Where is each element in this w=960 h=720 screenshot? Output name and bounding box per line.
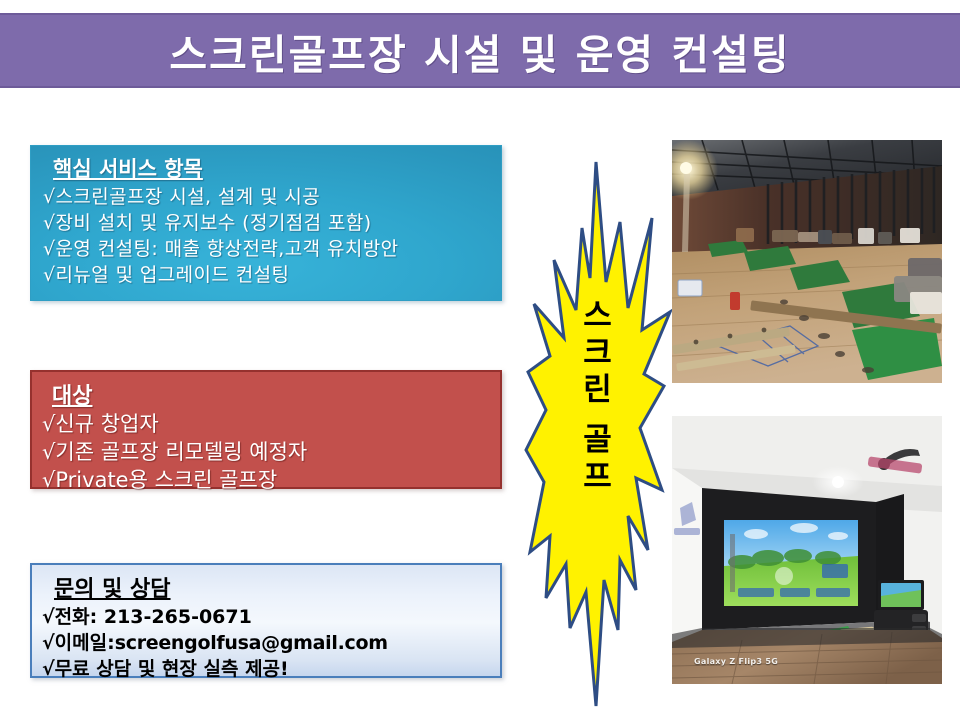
starburst-icon	[524, 160, 672, 708]
target-item: √신규 창업자	[42, 410, 500, 438]
screen-golf-room-image	[672, 416, 942, 684]
contact-heading: 문의 및 상담	[54, 571, 500, 603]
contact-email-value[interactable]: screengolfusa@gmail.com	[115, 632, 388, 654]
target-item: √기존 골프장 리모델링 예정자	[42, 438, 500, 466]
contact-note: √무료 상담 및 현장 실측 제공!	[42, 656, 500, 682]
contact-phone-label: √전화:	[42, 606, 104, 628]
construction-site-photo	[672, 140, 942, 383]
services-item: √스크린골프장 시설, 설계 및 시공	[43, 184, 501, 210]
finished-screen-golf-room-photo: Galaxy Z Flip3 5G	[672, 416, 942, 684]
services-card: 핵심 서비스 항목 √스크린골프장 시설, 설계 및 시공 √장비 설치 및 유…	[30, 145, 502, 301]
page-title: 스크린골프장 시설 및 운영 컨설팅	[169, 21, 790, 81]
services-item: √운영 컨설팅: 매출 향상전략,고객 유치방안	[43, 236, 501, 262]
services-item: √장비 설치 및 유지보수 (정기점검 포함)	[43, 210, 501, 236]
contact-email-line: √이메일:screengolfusa@gmail.com	[42, 630, 500, 656]
construction-site-image	[672, 140, 942, 383]
services-item: √리뉴얼 및 업그레이드 컨설팅	[43, 262, 501, 288]
screen-golf-starburst: 스 크 린 골 프	[524, 160, 672, 708]
contact-card: 문의 및 상담 √전화: 213-265-0671 √이메일:screengol…	[30, 563, 502, 678]
target-audience-card: 대상 √신규 창업자 √기존 골프장 리모델링 예정자 √Private용 스크…	[30, 370, 502, 489]
target-heading: 대상	[52, 378, 500, 410]
contact-email-label: √이메일:	[42, 632, 115, 654]
target-item: √Private용 스크린 골프장	[42, 466, 500, 494]
services-heading: 핵심 서비스 항목	[53, 153, 501, 183]
page-title-banner: 스크린골프장 시설 및 운영 컨설팅	[0, 13, 960, 88]
contact-phone-line: √전화: 213-265-0671	[42, 604, 500, 630]
contact-phone-value[interactable]: 213-265-0671	[104, 606, 252, 628]
